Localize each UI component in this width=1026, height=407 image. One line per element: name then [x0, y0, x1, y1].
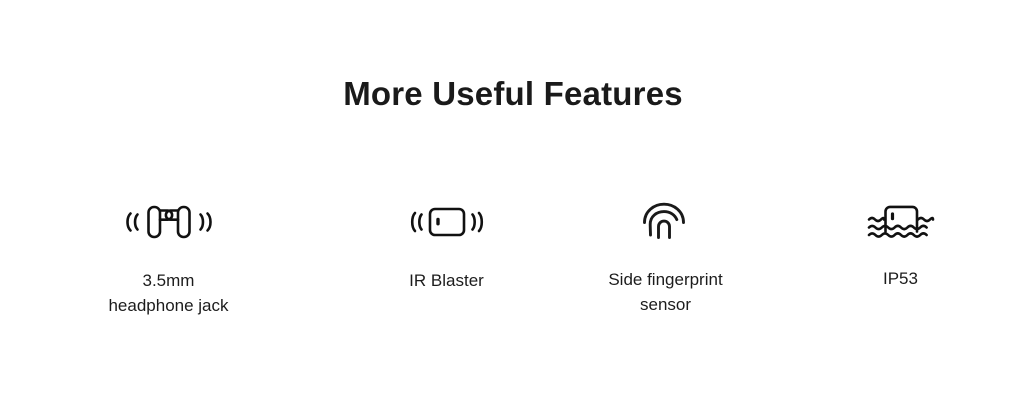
feature-item-ip-rating: IP53	[775, 196, 1026, 291]
feature-item-ir-blaster: IR Blaster	[337, 196, 556, 293]
fingerprint-icon	[640, 196, 692, 248]
feature-label: 3.5mm headphone jack	[108, 268, 228, 318]
feature-label: IR Blaster	[409, 268, 484, 293]
page-title: More Useful Features	[0, 72, 1026, 116]
more-useful-features-section: More Useful Features	[0, 0, 1026, 407]
feature-item-fingerprint: Side fingerprint sensor	[556, 196, 775, 317]
water-resistant-phone-icon	[863, 196, 939, 248]
feature-item-headphone-jack: 3.5mm headphone jack	[0, 196, 337, 318]
ir-blaster-icon	[404, 196, 490, 248]
feature-label: Side fingerprint sensor	[608, 267, 722, 317]
feature-label: IP53	[883, 266, 918, 291]
feature-grid: 3.5mm headphone jack IR Blaster	[0, 196, 1026, 318]
earbuds-icon	[117, 196, 221, 248]
